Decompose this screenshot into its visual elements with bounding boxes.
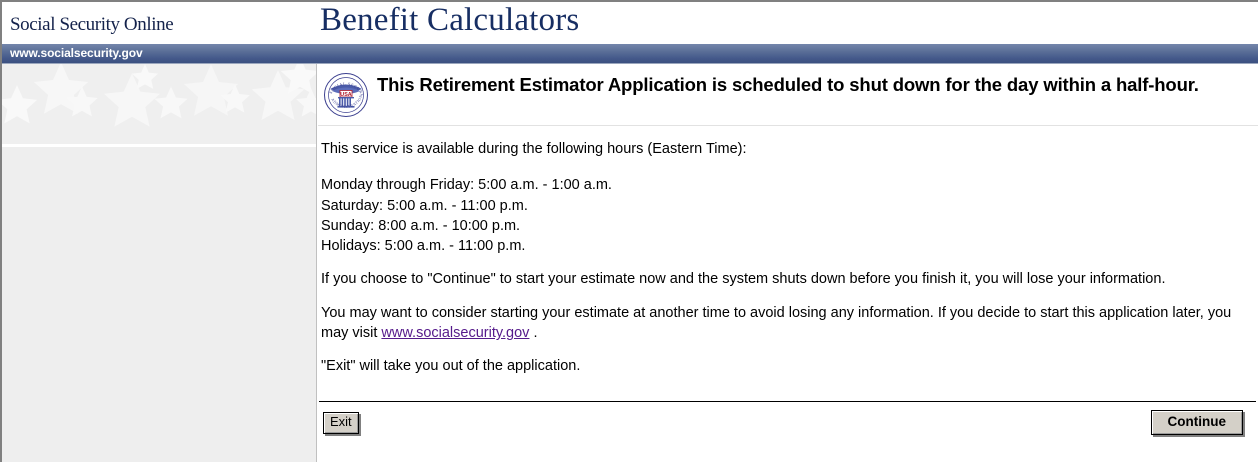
stars-decorative-band <box>2 64 316 147</box>
advice-paragraph: You may want to consider starting your e… <box>321 303 1250 344</box>
sidebar-nav-area <box>2 147 316 462</box>
url-bar: www.socialsecurity.gov <box>2 44 1258 64</box>
url-bar-text: www.socialsecurity.gov <box>10 46 143 60</box>
socialsecurity-gov-link[interactable]: www.socialsecurity.gov <box>381 325 529 341</box>
hours-line-sunday: Sunday: 8:00 a.m. - 10:00 p.m. <box>321 216 1250 236</box>
alert-header: USA SOCIAL SECURITY <box>318 64 1258 126</box>
hours-line-saturday: Saturday: 5:00 a.m. - 11:00 p.m. <box>321 196 1250 216</box>
page-root: Social Security Online Benefit Calculato… <box>0 0 1258 462</box>
service-hours-intro: This service is available during the fol… <box>321 139 1250 159</box>
site-banner: Social Security Online Benefit Calculato… <box>2 2 1258 44</box>
site-brand: Social Security Online <box>10 14 173 36</box>
shutdown-warning: If you choose to "Continue" to start you… <box>321 269 1250 289</box>
button-row-divider <box>319 401 1256 402</box>
exit-note: "Exit" will take you out of the applicat… <box>321 356 1250 376</box>
service-hours-list: Monday through Friday: 5:00 a.m. - 1:00 … <box>321 175 1250 256</box>
alert-heading-text: This Retirement Estimator Application is… <box>377 71 1248 97</box>
hours-line-weekday: Monday through Friday: 5:00 a.m. - 1:00 … <box>321 175 1250 195</box>
left-sidebar <box>2 64 317 462</box>
body-wrapper: USA SOCIAL SECURITY <box>2 64 1258 462</box>
ssa-seal-icon: USA SOCIAL SECURITY <box>322 71 370 119</box>
main-content: USA SOCIAL SECURITY <box>318 64 1258 462</box>
advice-text-after: . <box>529 325 537 341</box>
hours-line-holidays: Holidays: 5:00 a.m. - 11:00 p.m. <box>321 236 1250 256</box>
content-copy: This service is available during the fol… <box>318 139 1258 377</box>
page-title: Benefit Calculators <box>320 2 579 39</box>
exit-button[interactable]: Exit <box>323 412 359 434</box>
button-row: Exit Continue <box>318 410 1258 450</box>
continue-button[interactable]: Continue <box>1151 410 1244 435</box>
